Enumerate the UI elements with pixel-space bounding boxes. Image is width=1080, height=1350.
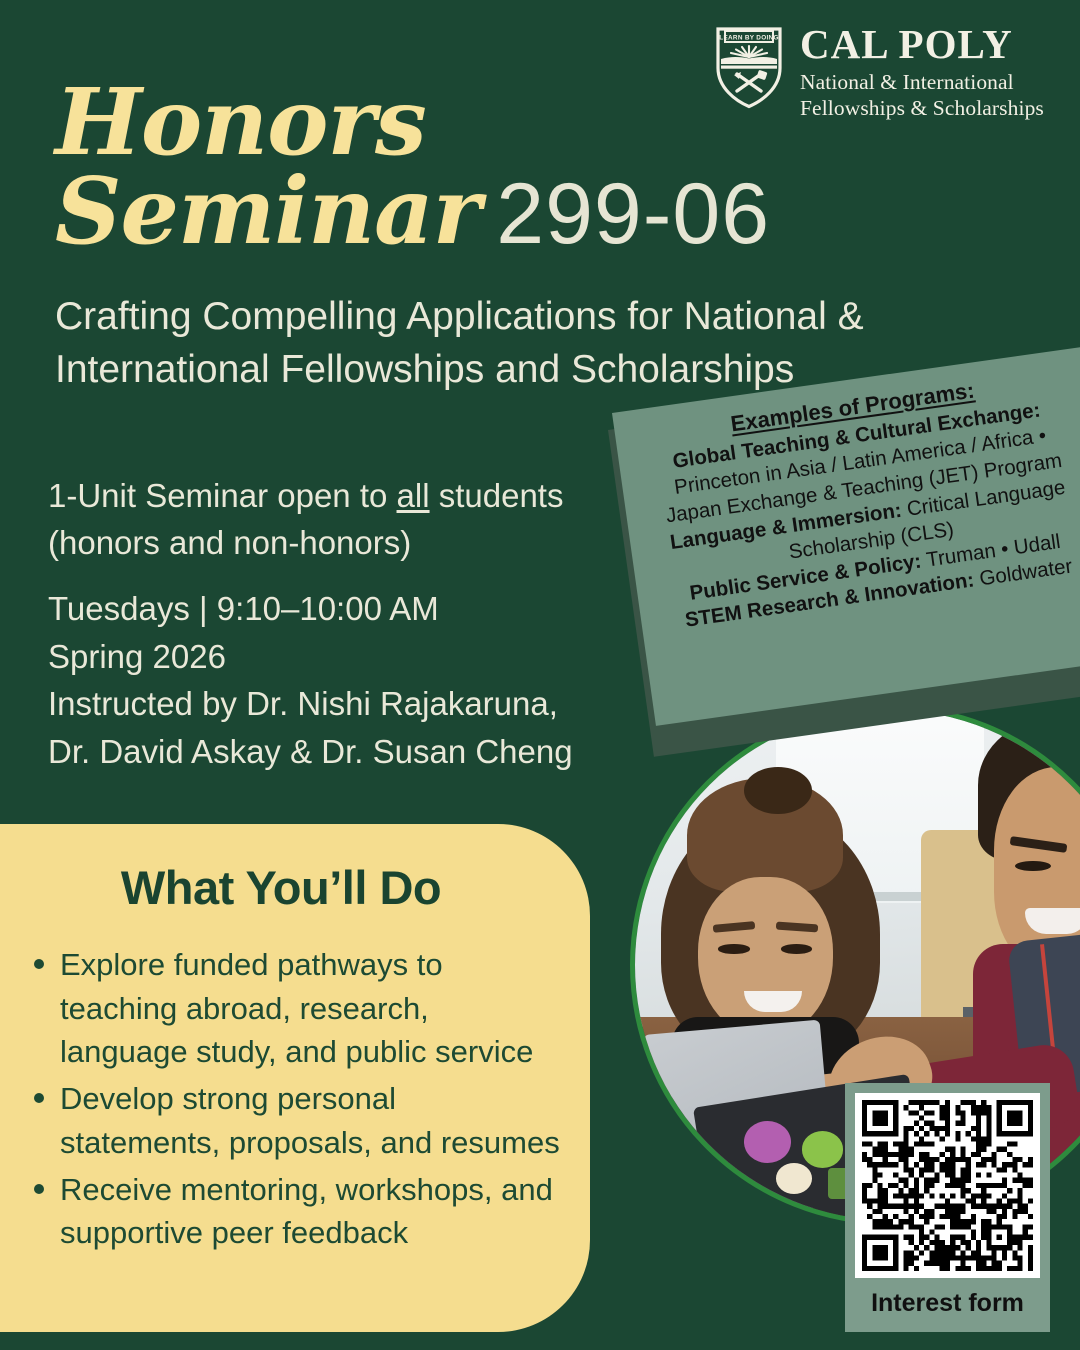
schedule-block: Tuesdays | 9:10–10:00 AM Spring 2026 Ins… (48, 585, 628, 775)
list-item: Receive mentoring, workshops, and suppor… (26, 1168, 564, 1255)
interest-form-qr-card[interactable]: Interest form (845, 1083, 1050, 1332)
svg-text:LEARN BY DOING: LEARN BY DOING (719, 35, 778, 42)
schedule-time: Tuesdays | 9:10–10:00 AM (48, 585, 628, 633)
instructors-line-2: Dr. David Askay & Dr. Susan Cheng (48, 728, 628, 776)
programs-panel: Examples of Programs: Global Teaching & … (612, 347, 1080, 726)
qr-label: Interest form (855, 1278, 1040, 1328)
poster-subtitle: Crafting Compelling Applications for Nat… (55, 290, 955, 396)
title-script-line-2: Seminar (55, 167, 480, 256)
cal-poly-wordmark: CAL POLY (800, 24, 1044, 65)
eligibility-block: 1-Unit Seminar open to all students (hon… (48, 473, 608, 567)
course-number: 299-06 (496, 171, 770, 257)
qr-code-icon[interactable] (855, 1093, 1040, 1278)
instructors-line-1: Instructed by Dr. Nishi Rajakaruna, (48, 680, 628, 728)
poster-title: Honors Seminar 299-06 (55, 78, 915, 257)
poster-canvas: LEARN BY DOING CAL POLY National & Inter… (0, 0, 1080, 1350)
title-script-line-1: Honors (55, 78, 915, 167)
eligibility-prefix: 1-Unit Seminar open to (48, 477, 397, 514)
what-you-will-do-heading: What You’ll Do (0, 860, 590, 915)
list-item: Explore funded pathways to teaching abro… (26, 943, 564, 1074)
schedule-term: Spring 2026 (48, 633, 628, 681)
what-you-will-do-list: Explore funded pathways to teaching abro… (0, 943, 590, 1255)
what-you-will-do-panel: What You’ll Do Explore funded pathways t… (0, 824, 590, 1332)
list-item: Develop strong personal statements, prop… (26, 1077, 564, 1164)
eligibility-suffix: students (430, 477, 564, 514)
eligibility-emphasis: all (397, 477, 430, 514)
eligibility-line-2: (honors and non-honors) (48, 524, 411, 561)
